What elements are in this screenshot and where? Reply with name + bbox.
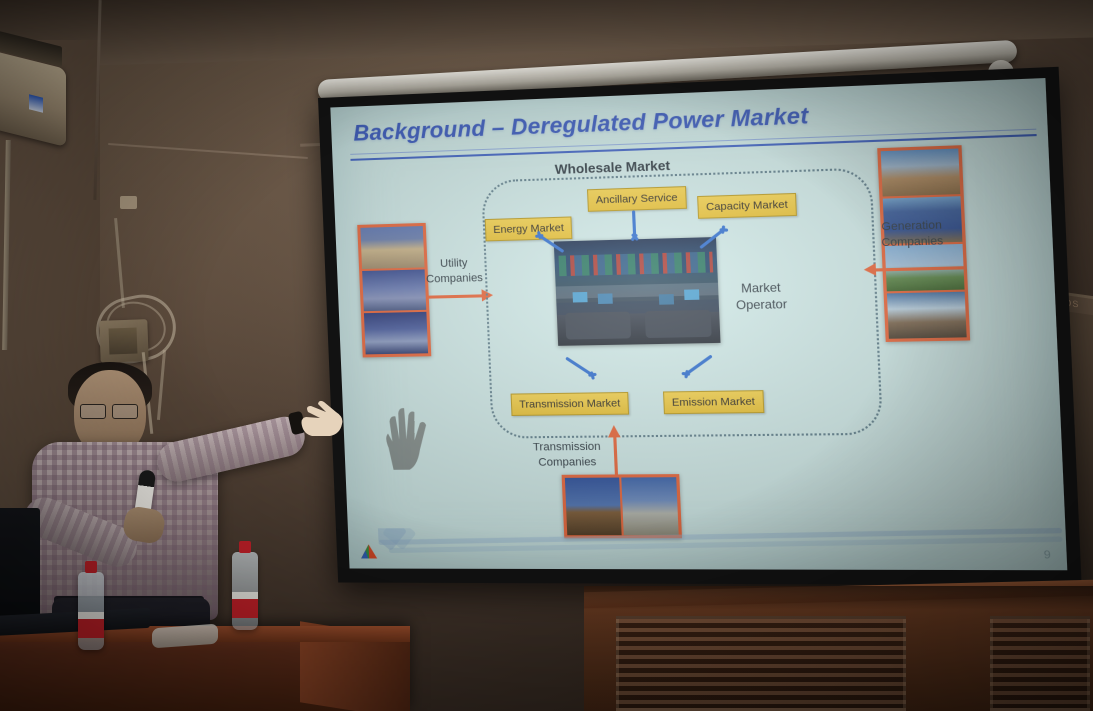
image-residential-houses: [360, 226, 424, 269]
slide-number: 9: [1043, 549, 1051, 562]
projection-screen: Background – Deregulated Power Market Ut…: [318, 67, 1082, 586]
utility-companies-label: Utility Companies: [421, 256, 487, 288]
image-thermal-power-plant: [881, 148, 961, 196]
utility-arrow: [427, 294, 484, 298]
image-hydro-water: [887, 292, 967, 339]
utility-images-frame: [357, 223, 431, 358]
transmission-companies-label: Transmission Companies: [523, 440, 612, 471]
air-conditioner-badge: [29, 94, 43, 112]
glasses-icon: [80, 404, 140, 417]
lecture-room-photo: TOS Redleaf Background – Deregulated Pow…: [0, 0, 1093, 711]
water-bottle: [232, 552, 258, 630]
image-substation: [621, 477, 678, 535]
water-bottle: [78, 572, 104, 650]
footer-swoosh: [378, 527, 1067, 563]
projected-slide: Background – Deregulated Power Market Ut…: [330, 78, 1067, 570]
radiator-vent-panel: [616, 616, 906, 711]
box-emission-market[interactable]: Emission Market: [663, 390, 764, 414]
image-transmission-lines: [565, 478, 622, 536]
desktop-monitor: [0, 508, 40, 620]
image-city-skyline: [362, 269, 426, 311]
market-operator-image: [554, 237, 721, 346]
box-energy-market[interactable]: Energy Market: [485, 216, 573, 241]
image-industrial-plant: [364, 312, 428, 354]
control-room-video-wall: [559, 252, 714, 277]
box-capacity-market[interactable]: Capacity Market: [697, 193, 797, 219]
hand-shadow: [377, 407, 432, 470]
wall-socket: [120, 196, 137, 209]
transmission-arrow: [613, 435, 618, 476]
box-ancillary-service[interactable]: Ancillary Service: [587, 186, 687, 212]
generation-companies-label: Generation Companies: [865, 218, 959, 252]
market-operator-label: MarketOperator: [735, 279, 788, 314]
box-transmission-market[interactable]: Transmission Market: [511, 392, 630, 416]
presenter-pointing-arm: [154, 413, 309, 486]
presenter-hand: [300, 400, 344, 440]
radiator-vent-panel: [990, 616, 1090, 711]
